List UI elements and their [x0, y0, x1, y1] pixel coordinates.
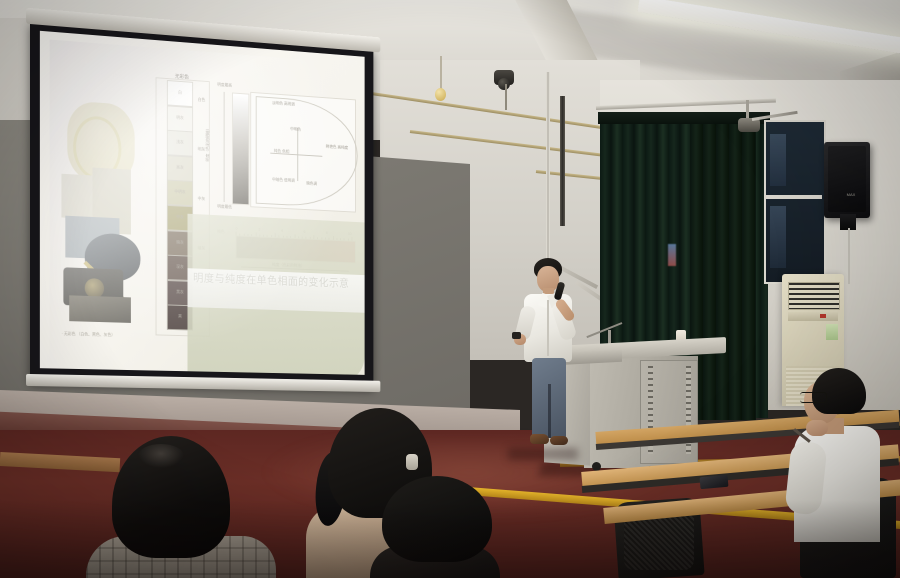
chart-vertical-axis — [224, 92, 225, 202]
student-front-right — [370, 476, 500, 578]
presenter — [512, 258, 582, 474]
camera-lens-icon — [498, 78, 510, 90]
color-space-chart: 明度最高 明度最低 明度（色彩的明暗） 淡明色 高明调中明色纯色 色相中暗色 低… — [219, 80, 356, 231]
student-front-right-hair — [382, 476, 492, 562]
presentation-slide: 无彩色 白明灰浅灰亮灰中明灰中灰暗灰深灰黑灰黑白色明灰中灰暗灰黑 明度最高 明度… — [40, 31, 365, 375]
presenter-shoe-left — [530, 434, 549, 444]
collage-shape-g — [69, 295, 131, 323]
glasses-icon — [800, 392, 827, 403]
ac-control-panel[interactable] — [788, 312, 838, 321]
chart-label-left: 明度（色彩的明暗） — [205, 126, 211, 161]
chart-axis-vertical — [297, 128, 298, 181]
stage-curtain-right-panel — [690, 124, 756, 420]
value-swatch: 明灰 — [167, 105, 193, 132]
light-bulb-icon — [435, 88, 446, 101]
student-right-hair — [812, 368, 866, 414]
value-swatch-label: 明灰 — [168, 114, 192, 121]
curtain-reflection — [668, 244, 676, 266]
hair-clip-icon — [406, 454, 418, 470]
presenter-shoe-right — [550, 436, 568, 445]
projection-screen: 无彩色 白明灰浅灰亮灰中明灰中灰暗灰深灰黑灰黑白色明灰中灰暗灰黑 明度最高 明度… — [30, 22, 373, 399]
value-swatch: 浅灰 — [167, 130, 193, 157]
student-left-hair-highlight — [138, 444, 184, 468]
hanging-cord — [440, 56, 442, 90]
value-swatch: 亮灰 — [167, 155, 193, 182]
value-swatch: 中明灰 — [167, 180, 193, 207]
value-swatch-label: 中明灰 — [168, 189, 192, 196]
ac-power-led — [820, 314, 826, 318]
presenter-shirt-placket — [547, 300, 549, 356]
window-pane-lower — [770, 206, 786, 268]
smartphone-on-desk[interactable] — [700, 475, 729, 489]
vertical-pipe-2 — [560, 96, 565, 226]
value-scale-side-label: 中灰 — [195, 197, 208, 202]
speaker-brand-label: MAX — [838, 192, 864, 197]
value-gradient-column — [232, 92, 249, 205]
window-mullion — [764, 195, 822, 199]
ac-energy-label — [826, 324, 838, 340]
chart-label-bottom: 明度最低 — [217, 204, 232, 211]
value-scale-side-label: 白色 — [195, 98, 208, 103]
slide-footnote: · 无彩色 （白色、黑色、灰色） — [61, 331, 148, 339]
lecture-hall-photo: MAX 无彩色 白明 — [0, 0, 900, 578]
remote-clicker[interactable] — [512, 332, 521, 339]
student-side-right — [786, 368, 900, 578]
student-front-left — [86, 436, 286, 578]
student-right-hand — [806, 420, 828, 436]
vertical-pipe-1 — [546, 72, 550, 262]
speaker-cable — [848, 228, 850, 284]
ceiling-fan-rod — [746, 100, 749, 120]
presenter-leg-separation — [548, 384, 551, 438]
value-swatch-label: 浅灰 — [168, 139, 192, 146]
speaker-grille — [828, 146, 866, 212]
value-swatch-label: 亮灰 — [168, 164, 192, 171]
chart-label-top: 明度最高 — [217, 82, 232, 89]
value-swatch: 白 — [167, 80, 193, 107]
value-swatch-label: 白 — [168, 89, 192, 97]
camera-cable — [505, 84, 507, 110]
ac-louver-vent — [788, 282, 840, 310]
window-pane-upper — [770, 134, 786, 186]
slide-photo-collage — [59, 96, 148, 327]
